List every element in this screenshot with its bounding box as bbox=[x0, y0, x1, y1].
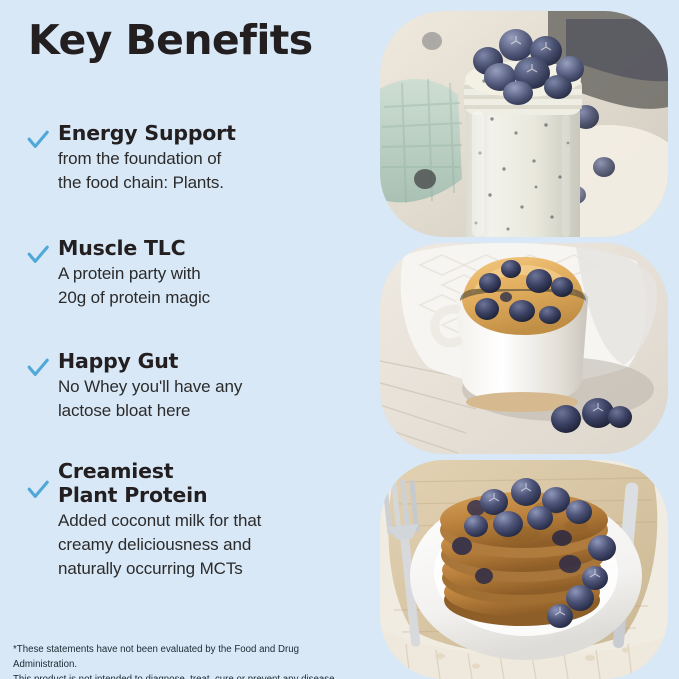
page-title: Key Benefits bbox=[28, 19, 313, 62]
check-icon bbox=[26, 478, 54, 502]
benefit-item: Muscle TLC A protein party with 20g of p… bbox=[26, 237, 356, 311]
benefit-title: Happy Gut bbox=[58, 350, 356, 374]
check-icon bbox=[26, 356, 54, 380]
benefit-title: Creamiest Plant Protein bbox=[58, 460, 356, 508]
benefit-title: Energy Support bbox=[58, 122, 356, 146]
check-icon bbox=[26, 128, 54, 152]
benefit-item: Energy Support from the foundation of th… bbox=[26, 122, 356, 196]
benefit-title: Muscle TLC bbox=[58, 237, 356, 261]
baked-blueberry-mug-cake-photo bbox=[380, 243, 668, 454]
benefit-description: No Whey you'll have any lactose bloat he… bbox=[58, 375, 356, 424]
benefit-item: Happy Gut No Whey you'll have any lactos… bbox=[26, 350, 356, 424]
product-benefits-infographic: Key Benefits Energy Support from the fou… bbox=[0, 0, 679, 679]
benefits-text-column: Key Benefits Energy Support from the fou… bbox=[0, 0, 370, 679]
check-icon bbox=[26, 243, 54, 267]
benefit-description: from the foundation of the food chain: P… bbox=[58, 147, 356, 196]
benefit-description: Added coconut milk for that creamy delic… bbox=[58, 509, 356, 582]
benefit-item: Creamiest Plant Protein Added coconut mi… bbox=[26, 460, 356, 582]
photo-column bbox=[370, 0, 679, 679]
benefit-description: A protein party with 20g of protein magi… bbox=[58, 262, 356, 311]
blueberry-pancake-stack-photo bbox=[380, 460, 668, 679]
fda-disclaimer: *These statements have not been evaluate… bbox=[13, 642, 363, 679]
overnight-oats-jar-photo bbox=[380, 11, 668, 237]
